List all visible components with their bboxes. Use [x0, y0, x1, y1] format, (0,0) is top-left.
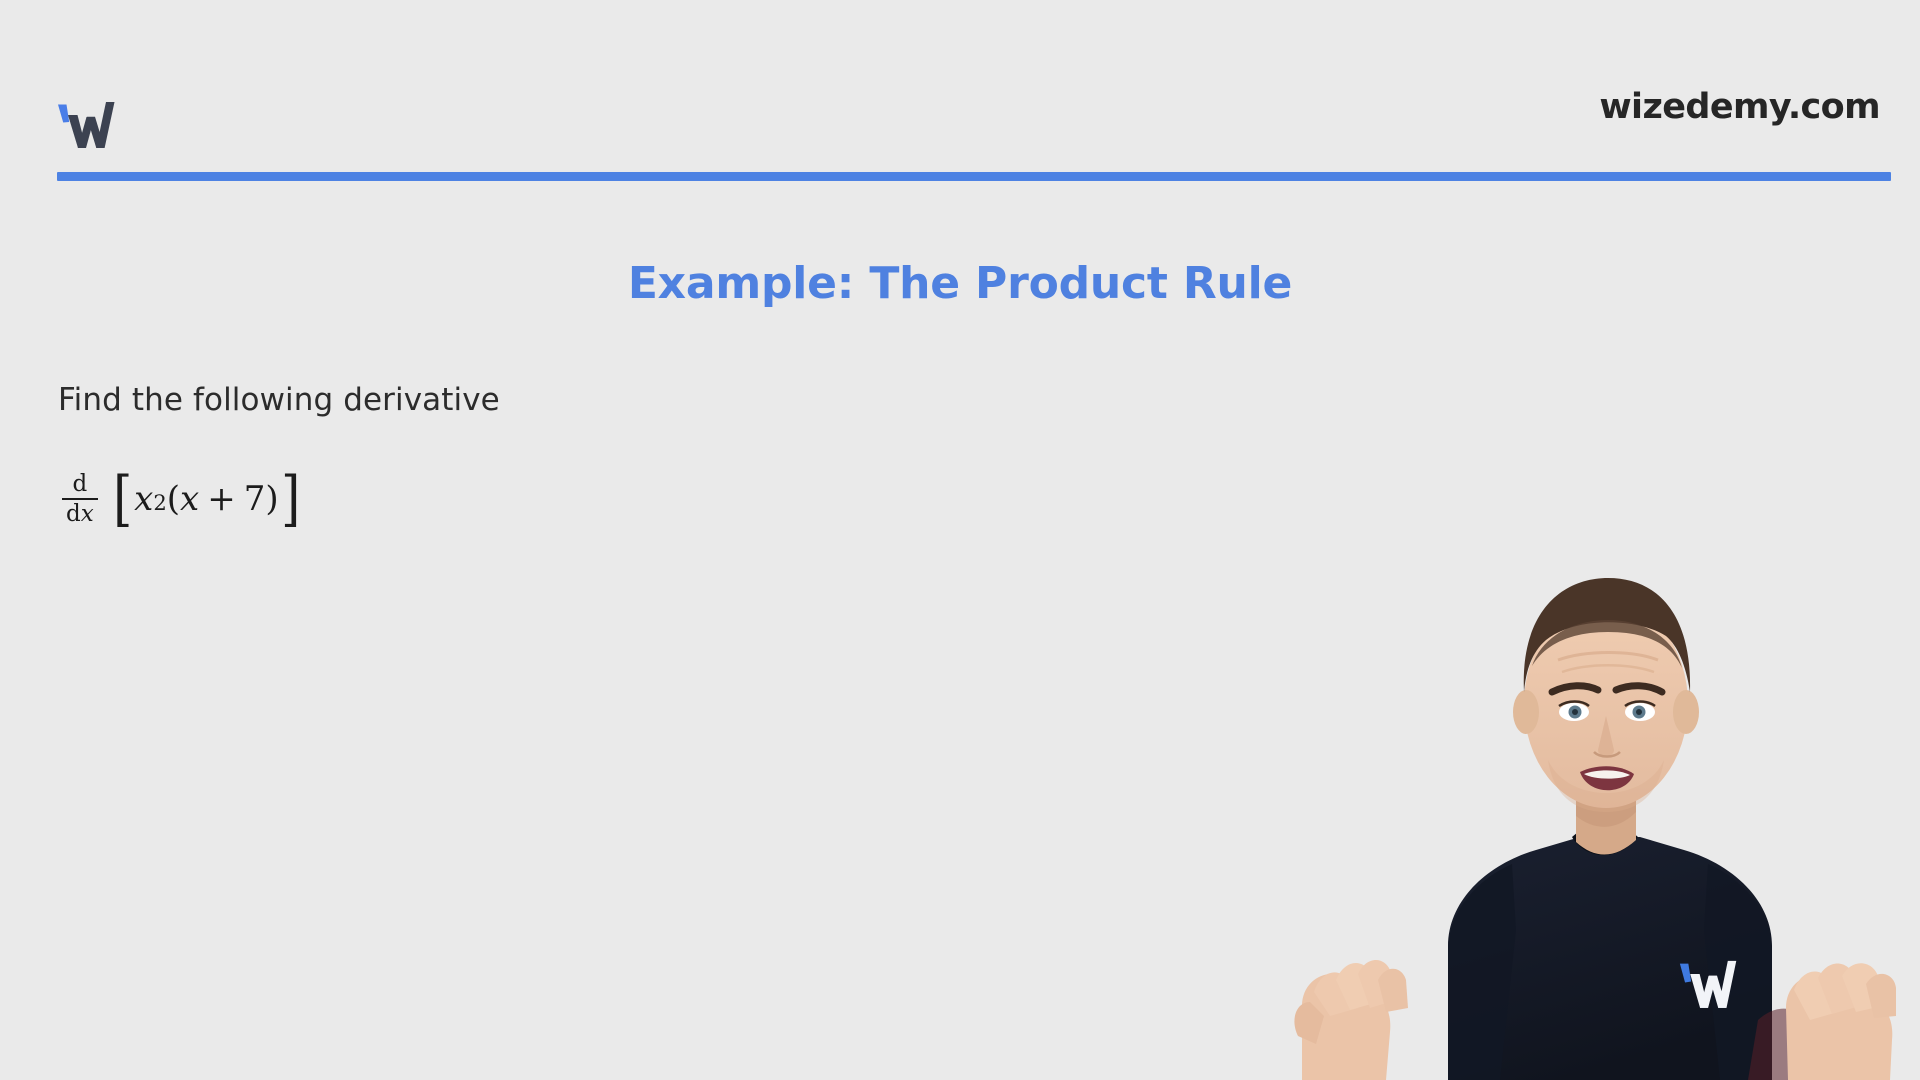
plus-operator: + [199, 482, 244, 516]
paren-open: ( [167, 482, 180, 516]
paren-close: ) [265, 482, 278, 516]
slide-canvas: wizedemy.com Example: The Product Rule F… [0, 0, 1920, 1080]
site-wordmark: wizedemy.com [1599, 90, 1880, 125]
math-expression: d dx [ x2(x+7) ] [62, 472, 302, 526]
derivative-operator: d dx [62, 472, 98, 526]
constant-term: 7 [244, 482, 266, 516]
slide-header: wizedemy.com [0, 0, 1920, 190]
blue-divider-rule [57, 172, 1891, 181]
page-title: Example: The Product Rule [0, 262, 1920, 306]
derivative-denominator: dx [62, 500, 98, 526]
base-variable: x [134, 482, 153, 516]
derivative-numerator: d [68, 472, 91, 498]
denominator-variable: x [81, 501, 94, 527]
inner-variable: x [180, 482, 199, 516]
instruction-text: Find the following derivative [58, 385, 500, 416]
presenter-video-overlay [1280, 460, 1920, 1080]
denominator-d: d [66, 501, 81, 527]
wizedemy-w-logo [56, 96, 134, 152]
expression-body: x2(x+7) [134, 482, 278, 516]
